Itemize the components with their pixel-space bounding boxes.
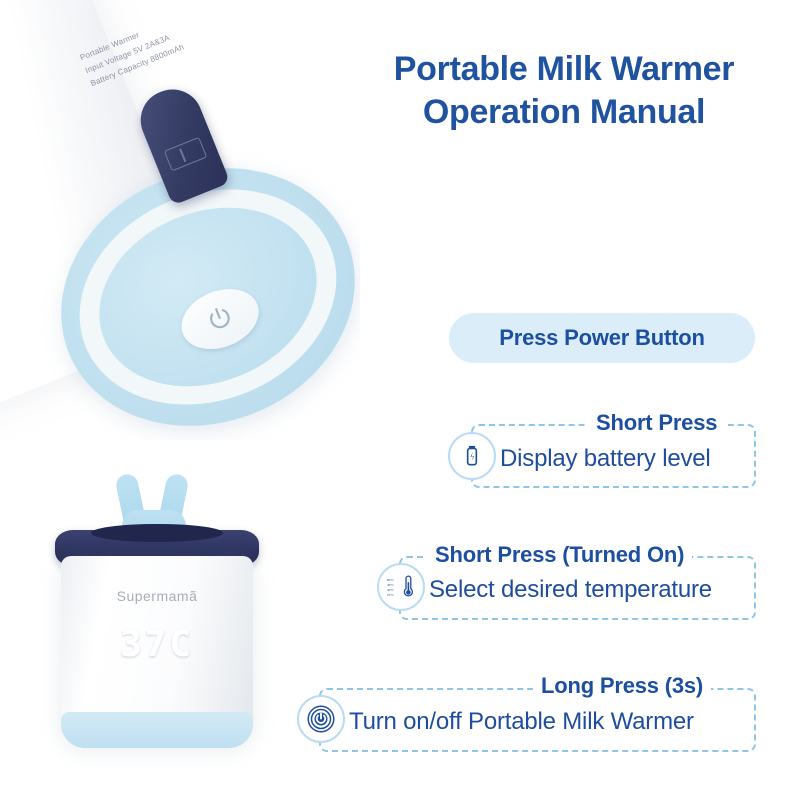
instruction-title-3: Long Press (3s) xyxy=(533,675,711,697)
instruction-desc-1: Display battery level xyxy=(500,445,711,473)
instruction-desc-2: Select desired temperature xyxy=(429,576,712,604)
power-ripple-icon xyxy=(297,695,345,743)
press-power-button-badge: Press Power Button xyxy=(449,313,755,363)
power-symbol-icon xyxy=(200,299,239,338)
manual-page: Portable Warmer Input Voltage 5V 2A&3A B… xyxy=(0,0,806,806)
product-photo-bottom: Supermamã 37C xyxy=(42,472,272,772)
page-title-line-2: Operation Manual xyxy=(352,91,776,134)
instruction-title-1: Short Press xyxy=(588,412,725,434)
svg-text:80°C: 80°C xyxy=(387,578,395,582)
device-power-button[interactable] xyxy=(172,278,267,360)
warmer-lid-top xyxy=(91,524,223,542)
svg-text:37°C: 37°C xyxy=(387,593,395,597)
power-ripple-glyph xyxy=(306,704,336,734)
cap-ring-inner xyxy=(72,176,343,418)
instruction-title-2: Short Press (Turned On) xyxy=(427,544,692,566)
thermometer-glyph: 80°C 45°C 40°C 37°C xyxy=(386,573,416,601)
product-spec-label: Portable Warmer Input Voltage 5V 2A&3A B… xyxy=(78,0,261,91)
thermometer-icon: 80°C 45°C 40°C 37°C xyxy=(377,563,425,611)
battery-bolt-icon xyxy=(448,432,496,480)
battery-bolt-glyph xyxy=(459,443,485,469)
svg-text:40°C: 40°C xyxy=(387,588,395,592)
page-title: Portable Milk Warmer Operation Manual xyxy=(352,48,776,134)
temperature-display: 37C xyxy=(61,624,253,665)
page-title-line-1: Portable Milk Warmer xyxy=(352,48,776,91)
badge-label: Press Power Button xyxy=(499,325,704,351)
usb-port-icon xyxy=(164,137,207,172)
instruction-desc-3: Turn on/off Portable Milk Warmer xyxy=(349,708,694,736)
warmer-base-foot xyxy=(61,712,253,748)
svg-text:45°C: 45°C xyxy=(387,583,395,587)
product-photo-top: Portable Warmer Input Voltage 5V 2A&3A B… xyxy=(0,0,360,440)
brand-name: Supermamã xyxy=(61,588,253,604)
